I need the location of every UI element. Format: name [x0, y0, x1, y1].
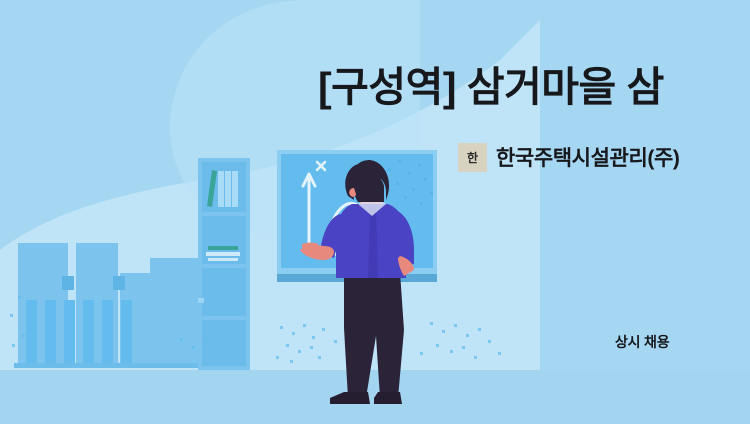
company-logo-badge: 한	[458, 143, 487, 172]
page-title: [구성역] 삼거마을 삼	[318, 64, 738, 111]
company-row[interactable]: 한 한국주택시설관리(주)	[458, 142, 679, 172]
status-badge: 상시 채용	[615, 332, 669, 352]
bookshelf-icon	[198, 158, 250, 370]
person-back-view-icon	[300, 160, 450, 420]
company-name[interactable]: 한국주택시설관리(주)	[496, 142, 679, 172]
job-posting-banner: [구성역] 삼거마을 삼 한 한국주택시설관리(주) 상시 채용	[0, 0, 750, 424]
